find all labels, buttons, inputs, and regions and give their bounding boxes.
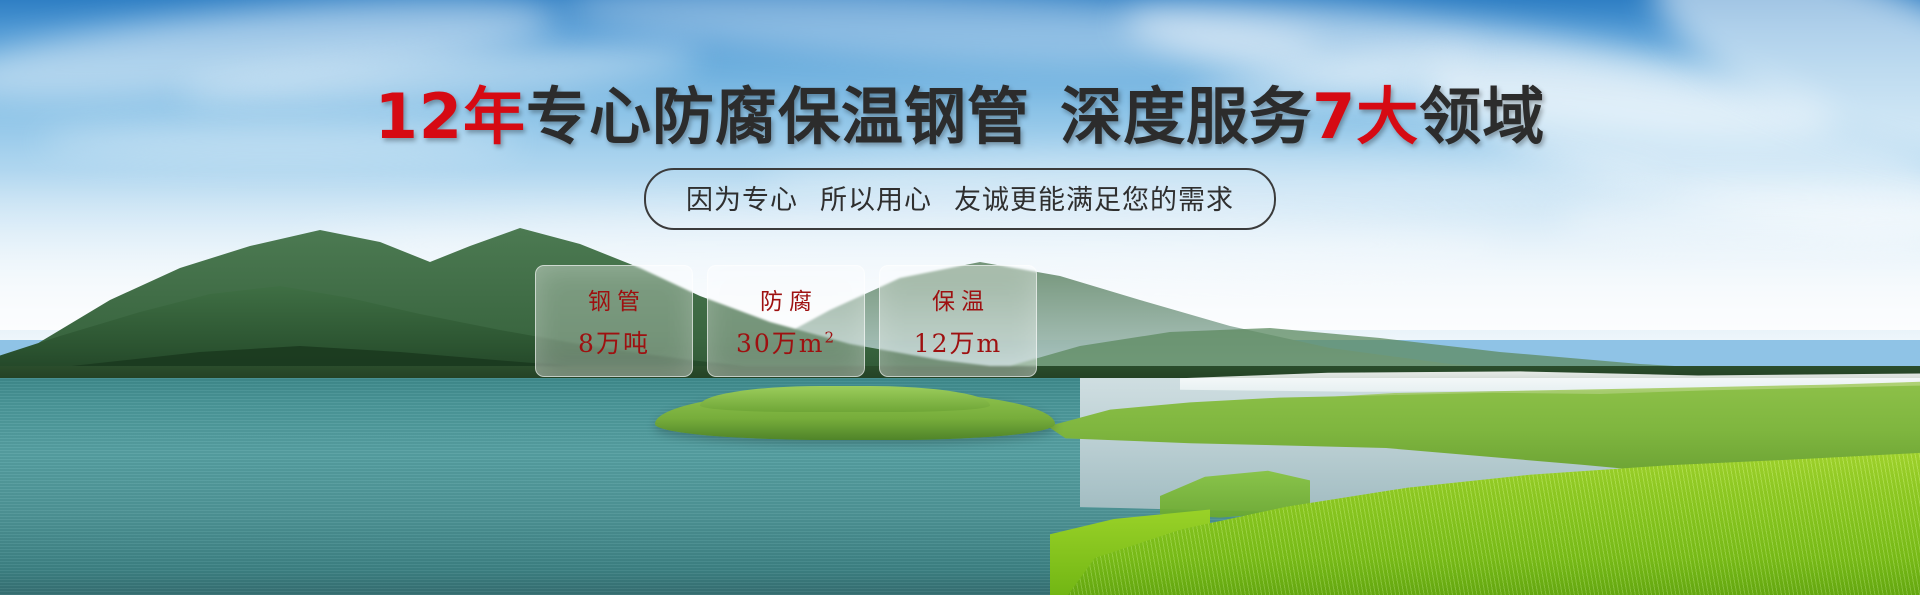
headline-years-number: 12 — [375, 80, 463, 153]
headline-fields-text: 领域 — [1419, 80, 1545, 153]
stat-card-value-text: 12万m — [914, 329, 1003, 358]
stat-card-insulation[interactable]: 保温 12万m — [879, 265, 1037, 377]
stat-card-value: 8万吨 — [578, 324, 650, 360]
subtitle-pill: 因为专心所以用心友诚更能满足您的需求 — [644, 168, 1276, 230]
headline-years-unit: 年 — [463, 80, 526, 153]
stat-card-value: 30万m2 — [736, 324, 836, 360]
stat-card-value-superscript: 2 — [824, 329, 836, 347]
banner-headline: 12年专心防腐保温钢管深度服务7大领域 — [0, 82, 1920, 152]
stat-card-anticorrosion[interactable]: 防腐 30万m2 — [707, 265, 865, 377]
stat-card-value: 12万m — [914, 324, 1003, 360]
stat-card-steel-pipe[interactable]: 钢管 8万吨 — [535, 265, 693, 377]
stat-card-label: 防腐 — [754, 282, 818, 316]
promo-banner: 12年专心防腐保温钢管深度服务7大领域 因为专心所以用心友诚更能满足您的需求 钢… — [0, 0, 1920, 595]
stat-card-value-text: 8万吨 — [578, 329, 650, 358]
stat-card-value-text: 30万m — [736, 329, 825, 358]
headline-fields-unit: 大 — [1356, 80, 1419, 153]
subtitle-part-1: 因为专心 — [686, 185, 798, 216]
grass-islet-top — [700, 386, 990, 412]
stat-card-group: 钢管 8万吨 防腐 30万m2 保温 12万m — [535, 265, 1037, 377]
headline-fields-number: 7 — [1312, 80, 1356, 153]
headline-main-text: 专心防腐保温钢管 — [526, 80, 1030, 153]
headline-service-text: 深度服务 — [1060, 80, 1312, 153]
subtitle-part-2: 所以用心 — [820, 185, 932, 216]
stat-card-label: 钢管 — [582, 282, 646, 316]
subtitle-part-3: 友诚更能满足您的需求 — [954, 185, 1234, 216]
stat-card-label: 保温 — [926, 282, 990, 316]
subtitle-container: 因为专心所以用心友诚更能满足您的需求 — [0, 168, 1920, 230]
